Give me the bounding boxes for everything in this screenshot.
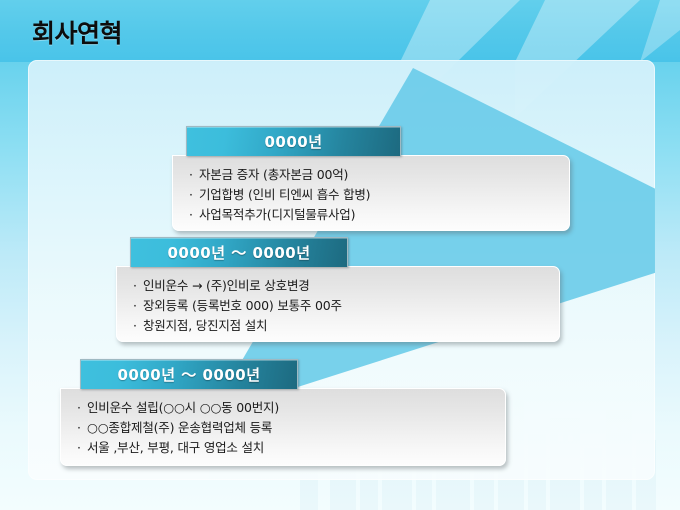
list-item-label: 서울 ,부산, 부평, 대구 영업소 설치 bbox=[87, 440, 264, 455]
list-item-label: 장외등록 (등록번호 000) 보통주 00주 bbox=[143, 298, 342, 313]
list-item: ·기업합병 (인비 티엔씨 흡수 합병) bbox=[189, 185, 569, 205]
bullet-marker: · bbox=[189, 205, 199, 225]
list-item-label: 기업합병 (인비 티엔씨 흡수 합병) bbox=[199, 187, 370, 202]
list-item-label: 창원지점, 당진지점 설치 bbox=[143, 318, 267, 333]
list-item: ·자본금 증자 (총자본금 00억) bbox=[189, 165, 569, 185]
bullet-marker: · bbox=[133, 276, 143, 296]
list-item: ·인비운수 설립(○○시 ○○동 00번지) bbox=[77, 398, 505, 418]
bullet-marker: · bbox=[133, 296, 143, 316]
list-item: ·창원지점, 당진지점 설치 bbox=[133, 316, 559, 336]
timeline-detail-panel: ·인비운수 → (주)인비로 상호변경 ·장외등록 (등록번호 000) 보통주… bbox=[116, 266, 560, 342]
list-item-label: 사업목적추가(디지털물류사업) bbox=[199, 207, 355, 222]
list-item: ·○○종합제철(주) 운송협력업체 등록 bbox=[77, 418, 505, 438]
timeline-detail-panel: ·자본금 증자 (총자본금 00억) ·기업합병 (인비 티엔씨 흡수 합병) … bbox=[172, 155, 570, 231]
list-item: ·사업목적추가(디지털물류사업) bbox=[189, 205, 569, 225]
timeline-block[interactable]: 0000년 ～ 0000년 ·인비운수 → (주)인비로 상호변경 ·장외등록 … bbox=[116, 237, 560, 342]
slide-canvas: 회사연혁 0000년 ·자본금 증자 (총자본금 00억) ·기업합병 (인비 … bbox=[0, 0, 680, 510]
timeline-block[interactable]: 0000년 ·자본금 증자 (총자본금 00억) ·기업합병 (인비 티엔씨 흡… bbox=[172, 126, 570, 231]
list-item: ·장외등록 (등록번호 000) 보통주 00주 bbox=[133, 296, 559, 316]
list-item: ·서울 ,부산, 부평, 대구 영업소 설치 bbox=[77, 438, 505, 458]
timeline-period-tab[interactable]: 0000년 bbox=[186, 126, 401, 156]
timeline-period-tab[interactable]: 0000년 ～ 0000년 bbox=[80, 359, 298, 389]
bullet-marker: · bbox=[77, 398, 87, 418]
bullet-marker: · bbox=[77, 438, 87, 458]
page-title: 회사연혁 bbox=[32, 14, 122, 50]
bullet-marker: · bbox=[77, 418, 87, 438]
list-item: ·인비운수 → (주)인비로 상호변경 bbox=[133, 276, 559, 296]
timeline-block[interactable]: 0000년 ～ 0000년 ·인비운수 설립(○○시 ○○동 00번지) ·○○… bbox=[60, 359, 506, 466]
bullet-marker: · bbox=[133, 316, 143, 336]
timeline-detail-panel: ·인비운수 설립(○○시 ○○동 00번지) ·○○종합제철(주) 운송협력업체… bbox=[60, 388, 506, 466]
list-item-label: 인비운수 설립(○○시 ○○동 00번지) bbox=[87, 400, 279, 415]
list-item-label: 자본금 증자 (총자본금 00억) bbox=[199, 167, 348, 182]
bullet-marker: · bbox=[189, 185, 199, 205]
list-item-label: 인비운수 → (주)인비로 상호변경 bbox=[143, 278, 310, 293]
bullet-marker: · bbox=[189, 165, 199, 185]
list-item-label: ○○종합제철(주) 운송협력업체 등록 bbox=[87, 420, 272, 435]
timeline-period-tab[interactable]: 0000년 ～ 0000년 bbox=[130, 237, 348, 267]
